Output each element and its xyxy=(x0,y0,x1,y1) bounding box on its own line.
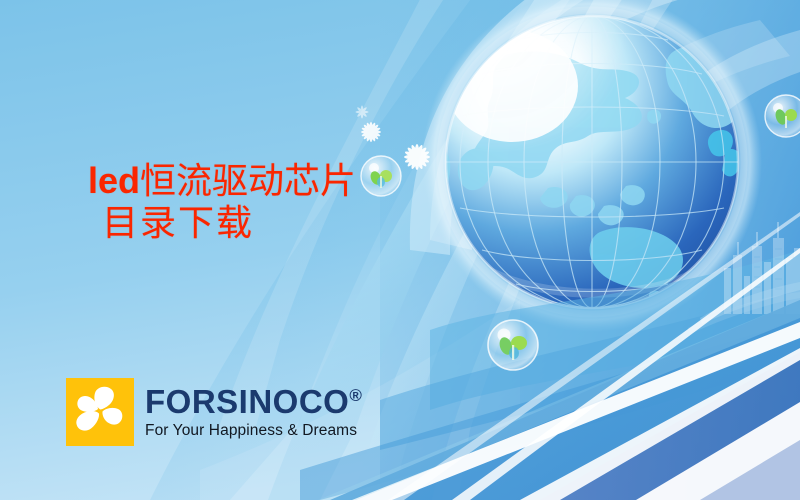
banner-canvas: led恒流驱动芯片 目录下载 FORSINOCO® For Your Happi… xyxy=(0,0,800,500)
headline: led恒流驱动芯片 目录下载 xyxy=(88,160,356,246)
headline-line-2: 目录下载 xyxy=(102,203,356,245)
registered-mark: ® xyxy=(349,386,362,405)
headline-latin-text: led xyxy=(88,160,140,201)
logo-wordmark: FORSINOCO® For Your Happiness & Dreams xyxy=(145,385,362,439)
logo-tagline: For Your Happiness & Dreams xyxy=(145,423,362,439)
bubble-icon xyxy=(361,156,401,196)
four-petal-pinwheel-icon xyxy=(66,378,134,446)
bubble-icon xyxy=(488,320,538,370)
sparkle-flower-icon xyxy=(361,122,381,142)
headline-cjk-text: 恒流驱动芯片 xyxy=(140,161,356,202)
logo-name: FORSINOCO® xyxy=(145,385,362,418)
headline-line-1: led恒流驱动芯片 xyxy=(88,160,356,203)
sparkle-flower-icon xyxy=(356,106,369,119)
logo-name-text: FORSINOCO xyxy=(145,383,349,420)
brand-logo: FORSINOCO® For Your Happiness & Dreams xyxy=(66,378,362,446)
sparkle-flower-icon xyxy=(404,144,430,170)
bubble-icon xyxy=(765,95,800,137)
